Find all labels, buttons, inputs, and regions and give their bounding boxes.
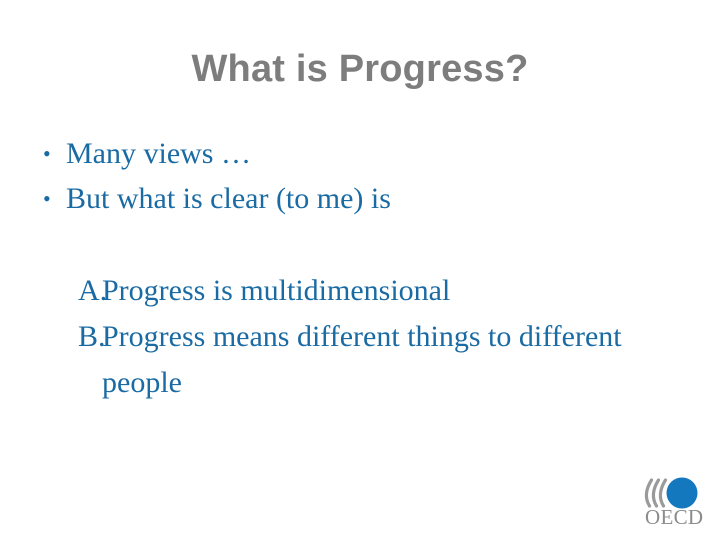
oecd-logo-mark-icon: [640, 475, 708, 509]
slide-canvas: What is Progress? • Many views … • But w…: [0, 0, 720, 540]
list-item: B. Progress means different things to di…: [78, 314, 638, 406]
letter-marker-a: A.: [78, 268, 102, 314]
bullet-item-label: Many views …: [66, 131, 251, 176]
list-item: • Many views …: [36, 131, 636, 176]
oecd-wordmark: OECD: [645, 506, 703, 529]
bullet-marker-icon: •: [36, 131, 66, 176]
bullet-item-label: But what is clear (to me) is: [66, 176, 391, 221]
oecd-wave-icon: [646, 480, 665, 506]
oecd-circle-icon: [667, 478, 698, 509]
oecd-logo: OECD: [640, 475, 708, 533]
bullet-list: • Many views … • But what is clear (to m…: [36, 131, 636, 221]
lettered-item-label: Progress means different things to diffe…: [102, 314, 626, 406]
letter-marker-b: B.: [78, 314, 102, 360]
list-item: • But what is clear (to me) is: [36, 176, 636, 221]
list-item: A. Progress is multidimensional: [78, 268, 638, 314]
lettered-list: A. Progress is multidimensional B. Progr…: [78, 268, 638, 406]
lettered-item-label: Progress is multidimensional: [102, 268, 626, 314]
page-title: What is Progress?: [0, 47, 720, 91]
bullet-marker-icon: •: [36, 176, 66, 221]
